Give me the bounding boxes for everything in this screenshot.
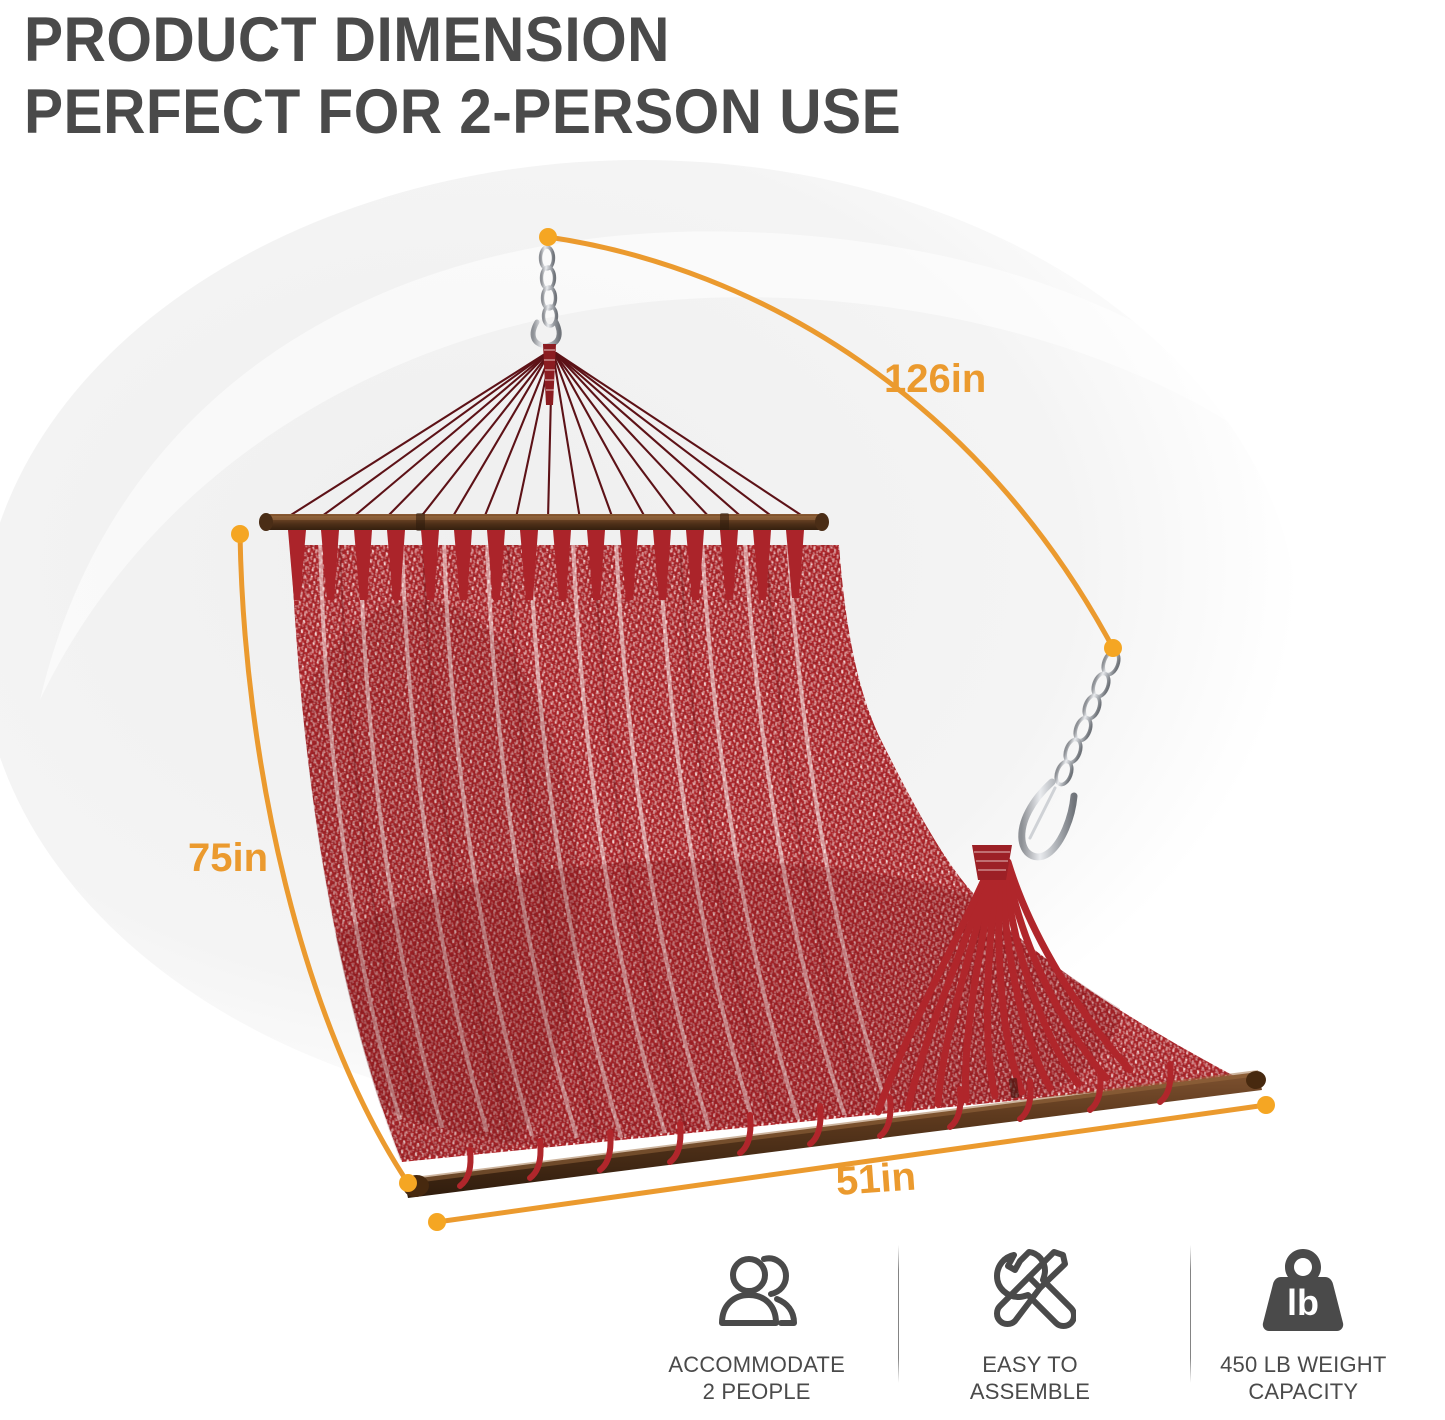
feature-caption-line2: CAPACITY	[1220, 1378, 1386, 1405]
feature-caption-accommodate: ACCOMMODATE 2 PEOPLE	[668, 1351, 845, 1405]
feature-caption-line1: EASY TO	[970, 1351, 1090, 1378]
feature-caption-assemble: EASY TO ASSEMBLE	[970, 1351, 1090, 1405]
feature-caption-line1: 450 LB WEIGHT	[1220, 1351, 1386, 1378]
foot-knot	[972, 845, 1012, 880]
dimension-label-51in: 51in	[834, 1154, 917, 1204]
dimension-label-75in: 75in	[188, 836, 268, 881]
dimension-label-126in: 126in	[884, 357, 986, 402]
feature-caption-line2: ASSEMBLE	[970, 1378, 1090, 1405]
two-people-icon	[711, 1243, 803, 1335]
feature-accommodate: ACCOMMODATE 2 PEOPLE	[620, 1243, 893, 1405]
feature-assemble: EASY TO ASSEMBLE	[893, 1243, 1166, 1405]
feature-caption-weight: 450 LB WEIGHT CAPACITY	[1220, 1351, 1386, 1405]
feature-caption-line1: ACCOMMODATE	[668, 1351, 845, 1378]
hammock-illustration	[0, 0, 1445, 1420]
feature-weight-capacity: lb 450 LB WEIGHT CAPACITY	[1167, 1243, 1440, 1405]
product-scene: 126in 75in 51in	[0, 0, 1445, 1420]
weight-icon-text: lb	[1287, 1282, 1319, 1323]
feature-divider-1	[898, 1245, 899, 1383]
feature-strip: ACCOMMODATE 2 PEOPLE EASY TO ASSEMBLE	[620, 1243, 1440, 1418]
feature-divider-2	[1190, 1245, 1191, 1383]
head-spreader-bar	[259, 513, 829, 531]
product-dimension-infographic: PRODUCT DIMENSION PERFECT FOR 2-PERSON U…	[0, 0, 1445, 1420]
feature-caption-line2: 2 PEOPLE	[668, 1378, 845, 1405]
tools-icon	[984, 1243, 1076, 1335]
weight-icon: lb	[1259, 1243, 1347, 1335]
